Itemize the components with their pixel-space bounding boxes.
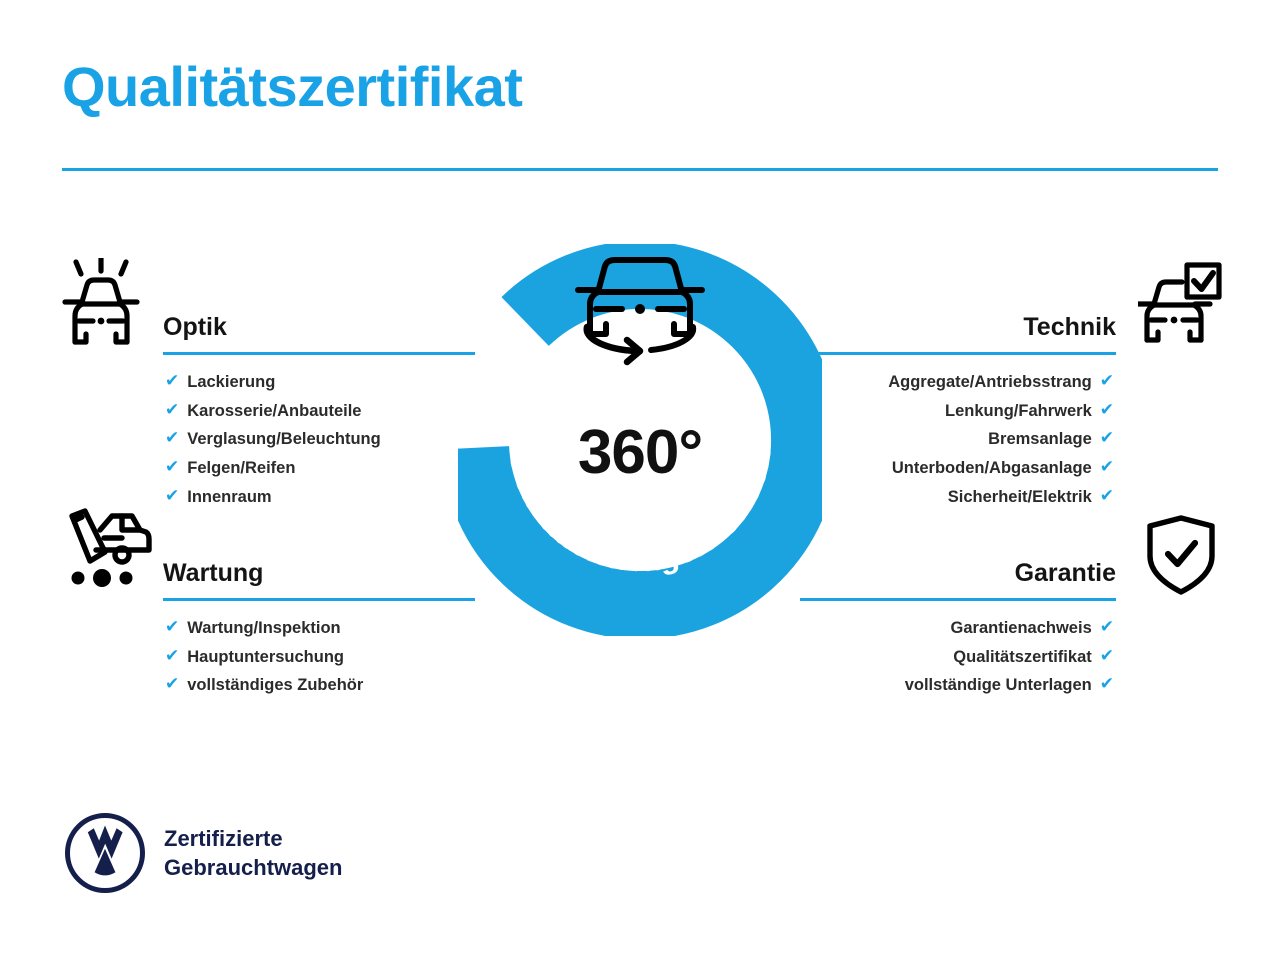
list-item: Aggregate/Antriebsstrang ✔ bbox=[888, 372, 1114, 393]
check-icon: ✔ bbox=[165, 372, 179, 389]
list-item: ✔ Wartung/Inspektion bbox=[165, 618, 341, 639]
list-item: ✔ Karosserie/Anbauteile bbox=[165, 401, 361, 422]
list-item: Qualitätszertifikat ✔ bbox=[953, 647, 1114, 668]
pen-car-service-icon bbox=[60, 508, 152, 597]
check-icon: ✔ bbox=[1100, 401, 1114, 418]
list-item-label: Innenraum bbox=[187, 487, 271, 508]
list-item: ✔ Hauptuntersuchung bbox=[165, 647, 344, 668]
checklist: Aggregate/Antriebsstrang ✔ Lenkung/Fahrw… bbox=[800, 372, 1116, 507]
list-item: Sicherheit/Elektrik ✔ bbox=[948, 487, 1114, 508]
checklist: Garantienachweis ✔ Qualitätszertifikat ✔… bbox=[800, 618, 1116, 696]
list-item-label: Bremsanlage bbox=[988, 429, 1092, 450]
list-item: Garantienachweis ✔ bbox=[951, 618, 1114, 639]
section-header: Technik bbox=[800, 296, 1116, 340]
section-header: Wartung bbox=[163, 542, 475, 586]
section-technik: Technik Aggregate/Antriebsstrang ✔ Lenku… bbox=[800, 296, 1116, 507]
list-item: ✔ Innenraum bbox=[165, 487, 272, 508]
check-icon: ✔ bbox=[165, 618, 179, 635]
check-icon: ✔ bbox=[165, 487, 179, 504]
section-title: Optik bbox=[163, 315, 227, 340]
check-icon: ✔ bbox=[165, 401, 179, 418]
shield-check-icon bbox=[1146, 514, 1216, 601]
page-title: Qualitätszertifikat bbox=[62, 58, 522, 117]
certificate-page: Qualitätszertifikat bbox=[0, 0, 1280, 960]
list-item: Lenkung/Fahrwerk ✔ bbox=[945, 401, 1114, 422]
list-item: Unterboden/Abgasanlage ✔ bbox=[892, 458, 1114, 479]
list-item: ✔ Lackierung bbox=[165, 372, 275, 393]
list-item-label: Lenkung/Fahrwerk bbox=[945, 401, 1092, 422]
list-item-label: Lackierung bbox=[187, 372, 275, 393]
car-checkbox-icon bbox=[1138, 262, 1222, 351]
check-icon: ✔ bbox=[1100, 487, 1114, 504]
section-divider bbox=[163, 352, 475, 355]
check-icon: ✔ bbox=[165, 647, 179, 664]
list-item-label: Wartung/Inspektion bbox=[187, 618, 340, 639]
list-item-label: vollständige Unterlagen bbox=[905, 675, 1092, 696]
lockup-text: Zertifizierte Gebrauchtwagen bbox=[164, 824, 342, 882]
car-shine-icon bbox=[62, 258, 140, 355]
section-header: Garantie bbox=[800, 542, 1116, 586]
list-item-label: Sicherheit/Elektrik bbox=[948, 487, 1092, 508]
check-icon: ✔ bbox=[165, 675, 179, 692]
list-item-label: Verglasung/Beleuchtung bbox=[187, 429, 380, 450]
section-wartung: Wartung ✔ Wartung/Inspektion ✔ Hauptunte… bbox=[163, 542, 475, 696]
car-rotate-360-icon bbox=[565, 252, 715, 370]
checklist: ✔ Lackierung ✔ Karosserie/Anbauteile ✔ V… bbox=[163, 372, 475, 507]
list-item-label: Aggregate/Antriebsstrang bbox=[888, 372, 1092, 393]
section-divider bbox=[163, 598, 475, 601]
vw-certified-lockup: Zertifizierte Gebrauchtwagen bbox=[64, 812, 342, 894]
check-icon: ✔ bbox=[165, 429, 179, 446]
checklist: ✔ Wartung/Inspektion ✔ Hauptuntersuchung… bbox=[163, 618, 475, 696]
check-icon: ✔ bbox=[1100, 675, 1114, 692]
section-title: Garantie bbox=[1015, 561, 1116, 586]
list-item: vollständige Unterlagen ✔ bbox=[905, 675, 1114, 696]
header-divider bbox=[62, 168, 1218, 171]
check-icon: ✔ bbox=[1100, 458, 1114, 475]
lockup-line-2: Gebrauchtwagen bbox=[164, 853, 342, 882]
check-icon: ✔ bbox=[1100, 647, 1114, 664]
list-item: ✔ Verglasung/Beleuchtung bbox=[165, 429, 381, 450]
list-item: Bremsanlage ✔ bbox=[988, 429, 1114, 450]
list-item-label: Qualitätszertifikat bbox=[953, 647, 1091, 668]
section-divider bbox=[800, 352, 1116, 355]
section-title: Wartung bbox=[163, 561, 263, 586]
list-item-label: Felgen/Reifen bbox=[187, 458, 295, 479]
section-header: Optik bbox=[163, 296, 475, 340]
list-item-label: Karosserie/Anbauteile bbox=[187, 401, 361, 422]
list-item: ✔ Felgen/Reifen bbox=[165, 458, 295, 479]
lockup-line-1: Zertifizierte bbox=[164, 824, 342, 853]
check-icon: ✔ bbox=[1100, 618, 1114, 635]
list-item-label: Unterboden/Abgasanlage bbox=[892, 458, 1092, 479]
section-optik: Optik ✔ Lackierung ✔ Karosserie/Anbautei… bbox=[163, 296, 475, 507]
check-icon: ✔ bbox=[1100, 372, 1114, 389]
volkswagen-logo bbox=[64, 812, 146, 894]
degrees-label: 360° bbox=[458, 422, 822, 484]
list-item-label: Garantienachweis bbox=[951, 618, 1092, 639]
list-item-label: vollständiges Zubehör bbox=[187, 675, 363, 696]
check-icon: ✔ bbox=[1100, 429, 1114, 446]
list-item-label: Hauptuntersuchung bbox=[187, 647, 344, 668]
section-title: Technik bbox=[1023, 315, 1116, 340]
section-divider bbox=[800, 598, 1116, 601]
section-garantie: Garantie Garantienachweis ✔ Qualitätszer… bbox=[800, 542, 1116, 696]
gebrauchtwagen-check-badge: Gebrauchtwagen-Check 360° bbox=[458, 244, 822, 636]
list-item: ✔ vollständiges Zubehör bbox=[165, 675, 363, 696]
check-icon: ✔ bbox=[165, 458, 179, 475]
